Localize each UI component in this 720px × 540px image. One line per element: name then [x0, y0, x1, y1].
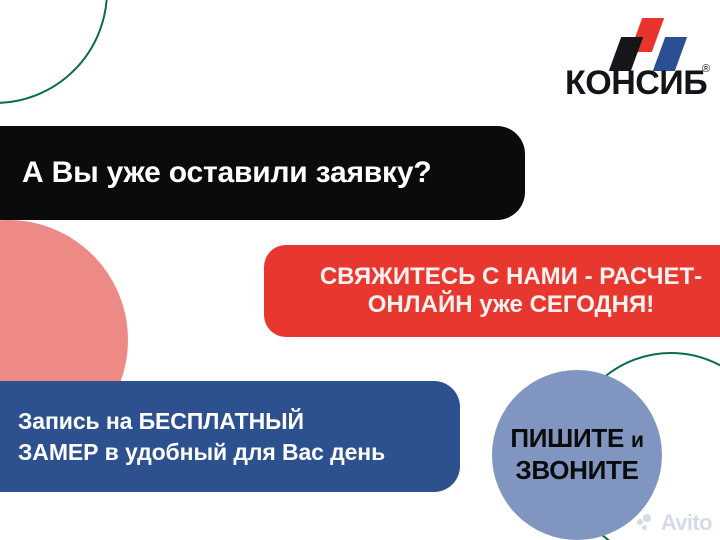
decorative-ring-top-left [0, 0, 108, 104]
call-circle-line-1-part-1: ПИШИТЕ [510, 423, 624, 453]
contact-banner: СВЯЖИТЕСЬ С НАМИ - РАСЧЕТ- ОНЛАЙН уже СЕ… [264, 245, 720, 337]
contact-banner-line-2: ОНЛАЙН уже СЕГОДНЯ! [368, 291, 654, 319]
measurement-banner: Запись на БЕСПЛАТНЫЙ ЗАМЕР в удобный для… [0, 381, 460, 492]
call-circle-line-1-part-2: и [631, 429, 644, 452]
promo-banner-canvas: КОНСИБ ® А Вы уже оставили заявку? СВЯЖИ… [0, 0, 720, 540]
contact-banner-line-2-part-1: ОНЛАЙН [368, 291, 473, 318]
measurement-banner-line-1: Запись на БЕСПЛАТНЫЙ [18, 406, 444, 437]
measurement-banner-line-2: ЗАМЕР в удобный для Вас день [18, 437, 444, 468]
brand-logo: КОНСИБ ® [565, 18, 713, 106]
call-circle-line-1: ПИШИТЕ и [510, 423, 643, 455]
call-circle-line-2: ЗВОНИТЕ [515, 455, 638, 487]
brand-wordmark: КОНСИБ [565, 66, 707, 100]
contact-banner-line-2-part-2: уже [479, 291, 523, 318]
contact-banner-line-2-part-3: СЕГОДНЯ! [530, 291, 655, 318]
contact-banner-line-1: СВЯЖИТЕСЬ С НАМИ - РАСЧЕТ- [320, 263, 702, 291]
registered-trademark-icon: ® [702, 64, 710, 75]
logo-mark-icon [601, 18, 697, 68]
avito-dots-icon [637, 514, 657, 532]
avito-watermark-text: Avito [661, 512, 712, 534]
avito-watermark: Avito [637, 512, 712, 534]
question-banner-text: А Вы уже оставили заявку? [22, 156, 505, 190]
question-banner: А Вы уже оставили заявку? [0, 126, 525, 220]
